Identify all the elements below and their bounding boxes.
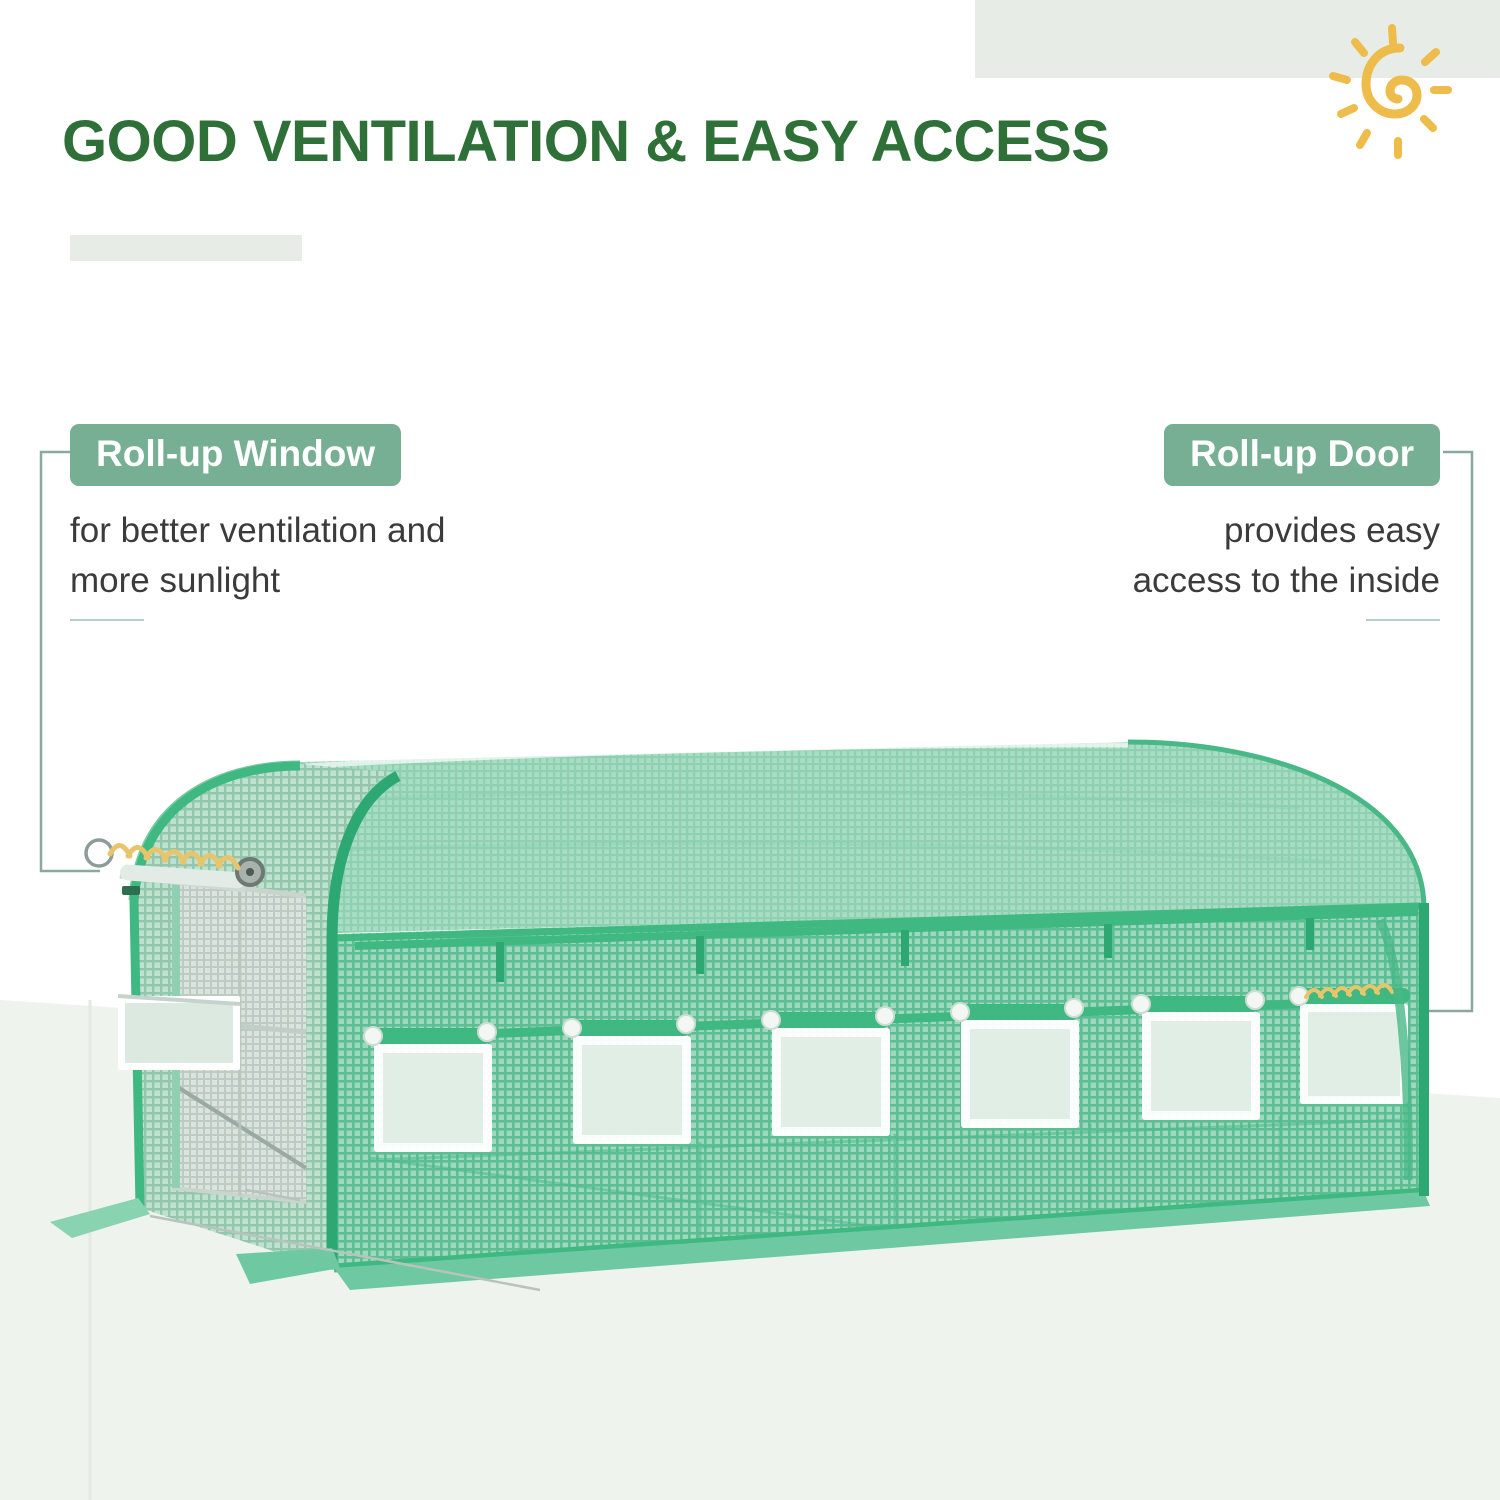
roll-up-window-with-zipper bbox=[1290, 985, 1410, 1104]
roll-up-window bbox=[364, 1023, 496, 1152]
roll-up-window bbox=[951, 999, 1083, 1128]
roll-up-window bbox=[762, 1007, 894, 1136]
infographic-canvas: GOOD VENTILATION & EASY ACCESS Roll-up W… bbox=[0, 0, 1500, 1500]
roll-up-window bbox=[1132, 991, 1264, 1120]
roll-up-window bbox=[563, 1015, 695, 1144]
front-window-panel bbox=[118, 996, 240, 1070]
greenhouse-illustration bbox=[0, 0, 1500, 1500]
